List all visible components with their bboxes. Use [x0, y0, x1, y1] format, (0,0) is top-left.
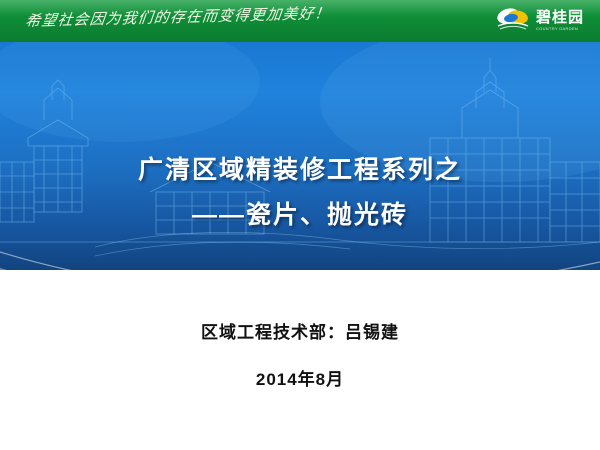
slide-header-bar: 希望社会因为我们的存在而变得更加美好！ 碧桂园 COUNTRY GARDEN: [0, 0, 600, 42]
brand-logo: 碧桂园 COUNTRY GARDEN: [495, 5, 584, 35]
presentation-slide: 希望社会因为我们的存在而变得更加美好！ 碧桂园 COUNTRY GARDEN: [0, 0, 600, 450]
butterfly-logo-icon: [495, 5, 531, 35]
presenter-department: 区域工程技术部：吕锡建: [0, 318, 600, 343]
title-line-1: 广清区域精装修工程系列之: [0, 155, 600, 186]
presentation-date: 2014年8月: [0, 365, 600, 390]
brand-name-en: COUNTRY GARDEN: [536, 27, 584, 31]
brand-logo-text: 碧桂园 COUNTRY GARDEN: [536, 10, 584, 31]
presenter-info: 区域工程技术部：吕锡建 2014年8月: [0, 318, 600, 390]
slide-title: 广清区域精装修工程系列之 ——瓷片、抛光砖: [0, 155, 600, 232]
title-line-2: ——瓷片、抛光砖: [0, 200, 600, 231]
brand-name-cn: 碧桂园: [536, 10, 584, 25]
